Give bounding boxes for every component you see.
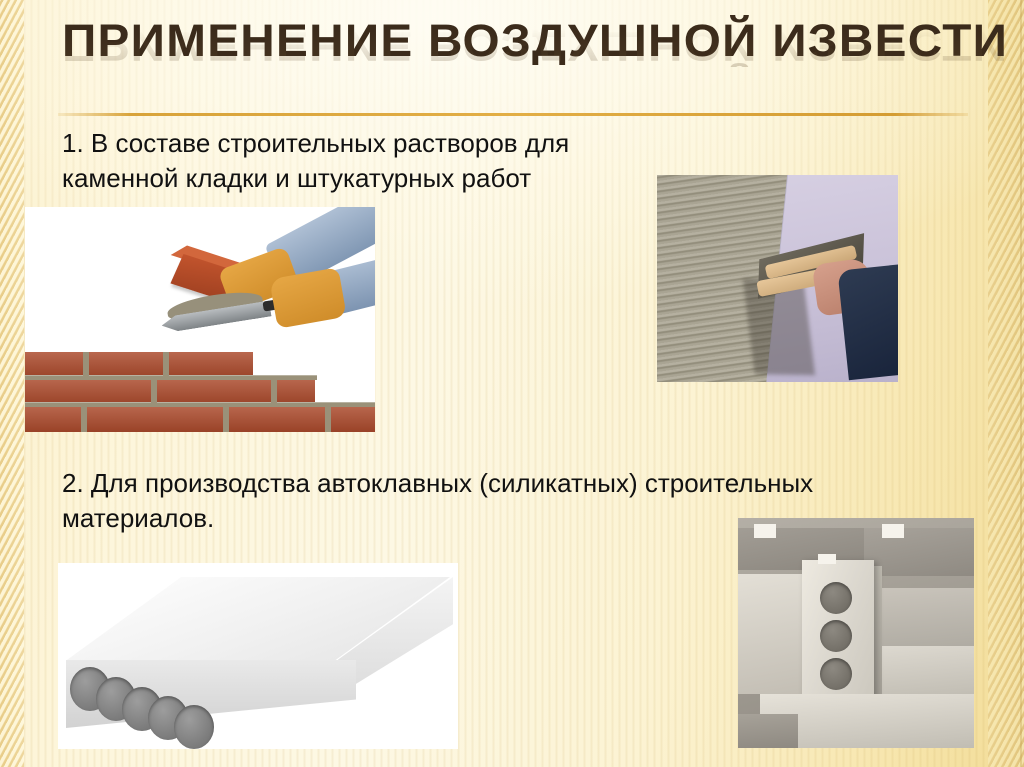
worker-glove-right	[269, 267, 347, 328]
standing-silicate-brick	[802, 560, 874, 708]
plastering-photo	[657, 175, 898, 382]
mortar-joint-vertical	[151, 379, 157, 405]
brick-hole	[820, 658, 852, 690]
mortar-joint-vertical	[83, 352, 89, 378]
brick-label-tab	[754, 524, 776, 538]
brick-label-tab	[818, 554, 836, 564]
brick-wall	[25, 352, 375, 432]
mortar-joint-vertical	[325, 406, 331, 432]
slab-void-hole	[174, 705, 214, 749]
silicate-brick	[738, 714, 798, 748]
presentation-slide: ПРИМЕНЕНИЕ ВОЗДУШНОЙ ИЗВЕСТИ ПРИМЕНЕНИЕ …	[0, 0, 1024, 767]
mortar-joint-vertical	[271, 379, 277, 405]
right-edge-band	[988, 0, 1024, 767]
right-edge-line	[1020, 0, 1022, 767]
bricklaying-photo	[25, 207, 375, 432]
brick-hole	[820, 620, 852, 652]
silicate-bricks-photo	[738, 518, 974, 748]
silicate-brick	[876, 588, 974, 650]
silicate-brick	[738, 574, 804, 694]
mortar-joint-horizontal	[25, 402, 375, 407]
bullet-item-2-text: 2. Для производства автоклавных (силикат…	[62, 466, 822, 535]
title-divider	[58, 113, 968, 116]
plasterer-arm	[837, 264, 898, 381]
mortar-joint-vertical	[81, 406, 87, 432]
brick-label-tab	[882, 524, 904, 538]
hollow-core-slab-photo	[58, 563, 458, 749]
brick-hole	[820, 582, 852, 614]
mortar-joint-vertical	[163, 352, 169, 378]
brick-row	[25, 406, 375, 432]
page-title-reflection: ПРИМЕНЕНИЕ ВОЗДУШНОЙ ИЗВЕСТИ	[62, 26, 1008, 67]
slide-title-zone: ПРИМЕНЕНИЕ ВОЗДУШНОЙ ИЗВЕСТИ ПРИМЕНЕНИЕ …	[0, 18, 1024, 114]
bullet-item-1-text: 1. В составе строительных растворов для …	[62, 126, 682, 195]
left-edge-band	[0, 0, 24, 767]
mortar-joint-vertical	[223, 406, 229, 432]
